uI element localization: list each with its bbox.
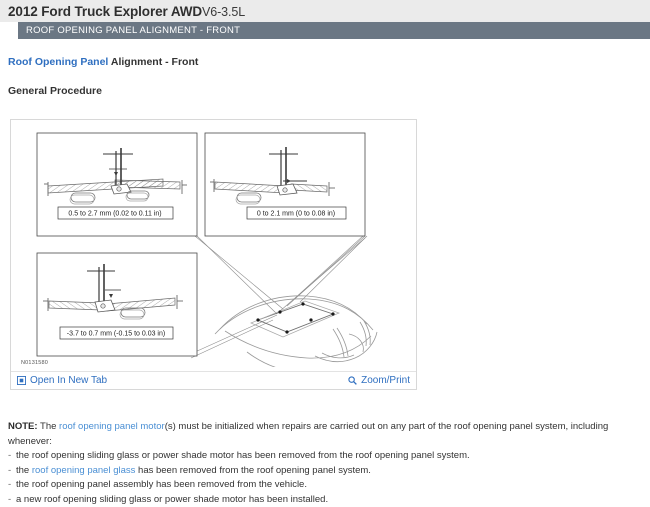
open-in-new-tab-button[interactable]: Open In New Tab	[17, 375, 107, 386]
callout-label-2: 0 to 2.1 mm (0 to 0.08 in)	[257, 211, 335, 218]
document-title: Roof Opening Panel Alignment - Front	[8, 56, 642, 68]
vehicle-engine-text: V6-3.5L	[202, 5, 245, 19]
vehicle-title-text: 2012 Ford Truck Explorer AWD	[8, 4, 202, 19]
figure-toolbar: Open In New Tab Zoom/Print	[11, 371, 416, 389]
note-item-pre: a new roof opening sliding glass or powe…	[16, 494, 328, 505]
figure-id: N0131580	[21, 360, 48, 366]
document-title-rest: Alignment - Front	[108, 56, 198, 68]
vehicle-header: 2012 Ford Truck Explorer AWDV6-3.5L	[0, 0, 650, 22]
note-block: NOTE: The roof opening panel motor(s) mu…	[8, 420, 646, 507]
roof-alignment-diagram: 0.5 to 2.7 mm (0.02 to 0.11 in)	[15, 124, 414, 367]
note-item-post: has been removed from the roof opening p…	[135, 465, 371, 476]
document-subheading: General Procedure	[8, 85, 642, 97]
callout-label-1: 0.5 to 2.7 mm (0.02 to 0.11 in)	[68, 211, 161, 218]
note-lead-line: NOTE: The roof opening panel motor(s) mu…	[8, 420, 646, 449]
bullet-dash: -	[8, 493, 11, 507]
document-title-link[interactable]: Roof Opening Panel	[8, 56, 108, 68]
zoom-print-label: Zoom/Print	[361, 375, 410, 386]
bullet-dash: -	[8, 449, 11, 464]
bullet-dash: -	[8, 464, 11, 479]
section-bar-container: ROOF OPENING PANEL ALIGNMENT - FRONT	[0, 22, 650, 39]
note-lead-link[interactable]: roof opening panel motor	[59, 421, 165, 432]
note-list-item: -the roof opening panel assembly has bee…	[8, 478, 646, 493]
figure-canvas[interactable]: 0.5 to 2.7 mm (0.02 to 0.11 in)	[15, 124, 412, 367]
search-icon	[348, 376, 357, 385]
open-in-new-tab-label: Open In New Tab	[30, 375, 107, 386]
content-area: Roof Opening Panel Alignment - Front Gen…	[0, 56, 650, 390]
note-lead-a: The	[38, 421, 59, 432]
section-bar: ROOF OPENING PANEL ALIGNMENT - FRONT	[18, 22, 650, 39]
note-list-item: -the roof opening sliding glass or power…	[8, 449, 646, 464]
bullet-dash: -	[8, 478, 11, 493]
note-list-item: -a new roof opening sliding glass or pow…	[8, 493, 646, 507]
note-item-pre: the roof opening sliding glass or power …	[16, 450, 470, 461]
note-item-pre: the roof opening panel assembly has been…	[16, 479, 307, 490]
note-label: NOTE:	[8, 421, 38, 432]
open-in-new-tab-icon	[17, 376, 26, 385]
section-bar-label: ROOF OPENING PANEL ALIGNMENT - FRONT	[26, 25, 240, 36]
page-title: 2012 Ford Truck Explorer AWDV6-3.5L	[8, 4, 245, 19]
callout-label-3: -3.7 to 0.7 mm (-0.15 to 0.03 in)	[67, 331, 165, 338]
note-item-link[interactable]: roof opening panel glass	[32, 465, 136, 476]
zoom-print-button[interactable]: Zoom/Print	[348, 375, 410, 386]
note-item-pre: the	[16, 465, 32, 476]
figure-block: 0.5 to 2.7 mm (0.02 to 0.11 in)	[10, 119, 417, 390]
note-list-item: -the roof opening panel glass has been r…	[8, 464, 646, 479]
